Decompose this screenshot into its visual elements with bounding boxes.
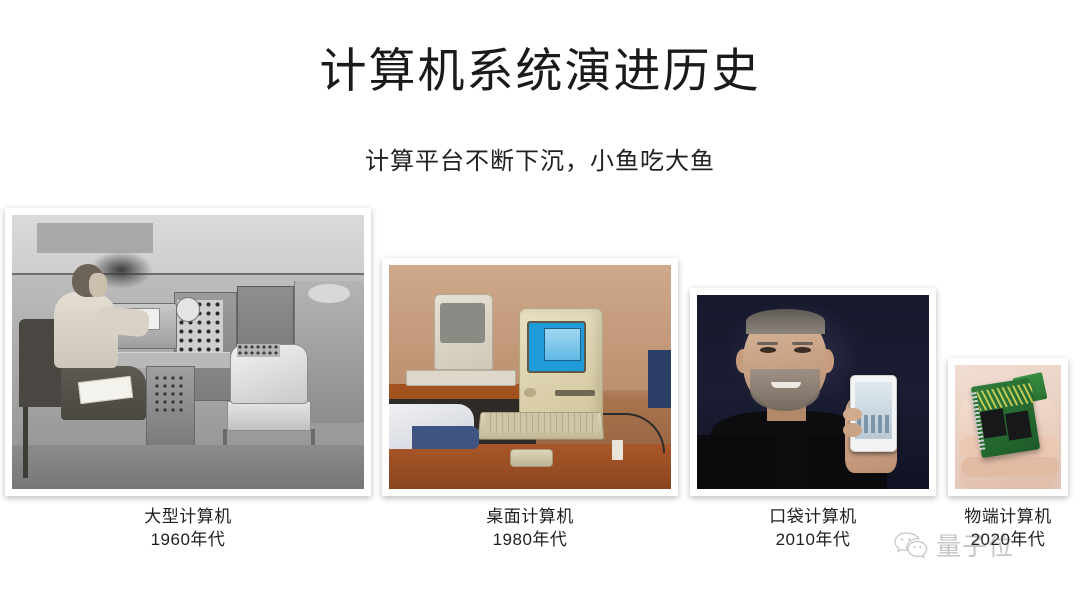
slide-root: 计算机系统演进历史 计算平台不断下沉，小鱼吃大鱼 大型计算机 1960年代 [0, 0, 1080, 594]
thing-edge-photo-illustration [955, 365, 1061, 489]
pocket-photo-illustration [697, 295, 929, 489]
desktop-photo-illustration [389, 265, 671, 489]
caption-pocket: 口袋计算机 2010年代 [690, 505, 936, 552]
timeline-photo-desktop [382, 258, 678, 496]
timeline-photo-pocket [690, 288, 936, 496]
caption-thing-edge: 物端计算机 2020年代 [940, 505, 1076, 552]
caption-mainframe: 大型计算机 1960年代 [5, 505, 371, 552]
caption-desktop: 桌面计算机 1980年代 [382, 505, 678, 552]
timeline-photo-thing-edge [948, 358, 1068, 496]
page-subtitle: 计算平台不断下沉，小鱼吃大鱼 [0, 148, 1080, 177]
mainframe-photo-illustration [12, 215, 364, 489]
page-title: 计算机系统演进历史 [0, 44, 1080, 98]
timeline-photo-mainframe [5, 208, 371, 496]
